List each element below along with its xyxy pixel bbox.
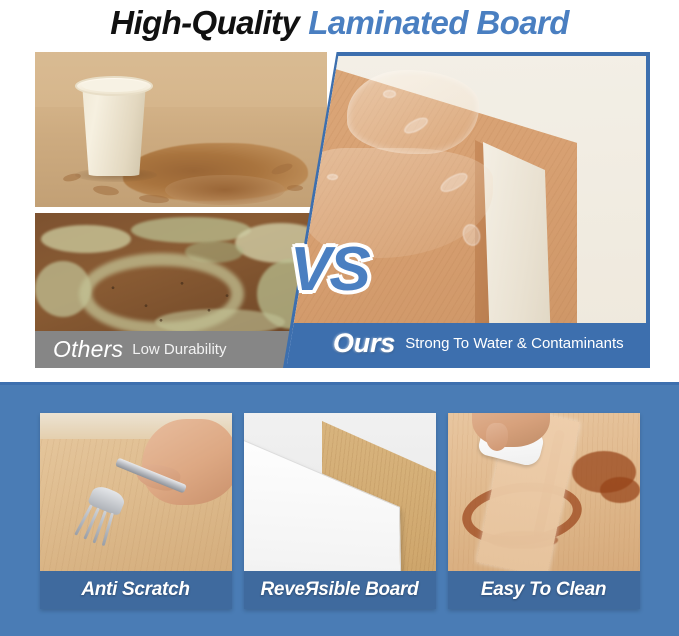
- ours-panel-inner: Ours Strong To Water & Contaminants: [287, 56, 646, 364]
- ours-label-text: Ours: [333, 328, 395, 359]
- feature-card-easy-to-clean: Easy To Clean: [448, 413, 640, 609]
- vs-badge: VS: [290, 234, 369, 305]
- page-title: High-Quality Laminated Board: [0, 0, 679, 46]
- page-title-accent: Laminated Board: [308, 4, 569, 42]
- others-label-bar: Others Low Durability: [35, 331, 327, 368]
- ours-label-bar: Ours Strong To Water & Contaminants: [287, 323, 646, 364]
- others-panel: Others Low Durability: [35, 52, 327, 368]
- sauce-blob-shape: [600, 477, 640, 503]
- board-side-shape: [483, 142, 554, 331]
- hand-shape: [142, 419, 232, 505]
- feature-card-label: Anti Scratch: [40, 571, 232, 609]
- finger-shape: [486, 423, 508, 451]
- water-pool-shape: [347, 70, 479, 154]
- mold-patch-shape: [131, 217, 251, 243]
- others-sublabel-text: Low Durability: [132, 341, 226, 358]
- features-strip: Anti Scratch ReveЯsible Board Easy To Cl…: [0, 382, 679, 636]
- page-title-primary: High-Quality: [110, 4, 299, 42]
- cup-inner-shape: [82, 79, 146, 92]
- feature-card-image: [448, 413, 640, 571]
- others-label-text: Others: [53, 336, 123, 363]
- feature-card-image: [40, 413, 232, 571]
- coffee-drip-shape: [287, 185, 303, 191]
- comparison-section: Others Low Durability Ours Strong To Wat…: [35, 52, 650, 368]
- ours-sublabel-text: Strong To Water & Contaminants: [405, 335, 623, 352]
- feature-card-label: Easy To Clean: [448, 571, 640, 609]
- feature-card-anti-scratch: Anti Scratch: [40, 413, 232, 609]
- coffee-puddle-core-shape: [165, 175, 285, 205]
- others-top-image: [35, 52, 327, 207]
- feature-card-image: [244, 413, 436, 571]
- water-droplet-shape: [383, 90, 396, 98]
- ours-panel: Ours Strong To Water & Contaminants: [283, 52, 650, 368]
- water-droplet-shape: [327, 174, 338, 180]
- others-bottom-image: [35, 213, 327, 331]
- mold-patch-shape: [41, 225, 131, 253]
- feature-card-label: ReveЯsible Board: [244, 571, 436, 609]
- feature-card-reversible-board: ReveЯsible Board: [244, 413, 436, 609]
- mold-spots-shape: [95, 271, 245, 327]
